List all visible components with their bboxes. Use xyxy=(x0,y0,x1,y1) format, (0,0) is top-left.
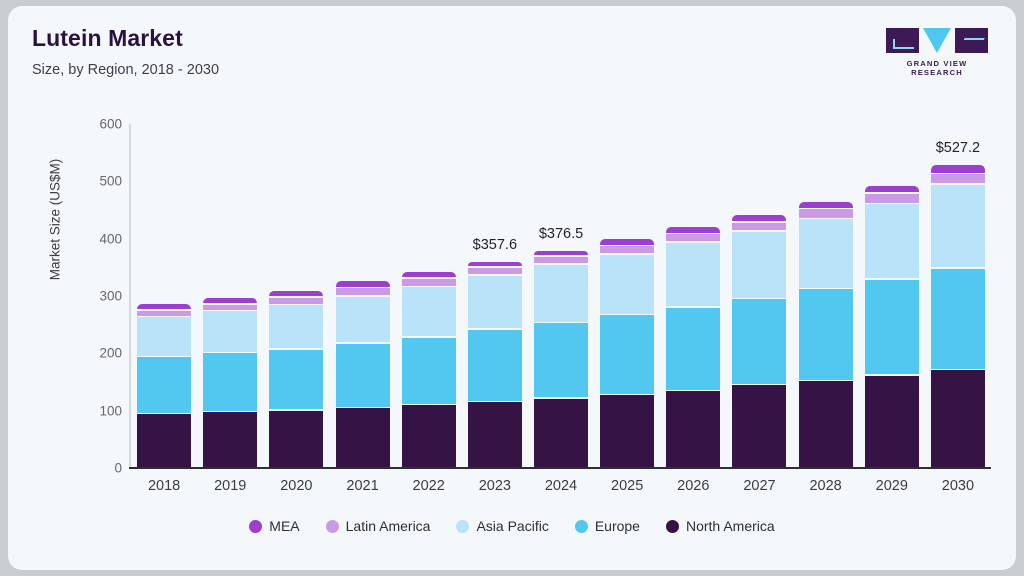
chart-subtitle: Size, by Region, 2018 - 2030 xyxy=(32,61,992,79)
legend-color-swatch-icon xyxy=(666,520,679,533)
logo-letter-v-icon xyxy=(923,28,951,53)
bar-segment[interactable] xyxy=(534,251,588,256)
bar-segment[interactable] xyxy=(137,414,191,467)
bar-segment[interactable] xyxy=(666,227,720,232)
bar-group[interactable] xyxy=(137,123,191,467)
x-axis-tick: 2025 xyxy=(592,478,662,494)
bar-segment[interactable] xyxy=(799,381,853,467)
bar-segment[interactable] xyxy=(468,330,522,401)
legend-item[interactable]: North America xyxy=(666,518,775,534)
bar-group[interactable]: $357.6 xyxy=(468,123,522,467)
bar-segment[interactable] xyxy=(336,288,390,295)
bar-segment[interactable] xyxy=(269,350,323,409)
page-title: Lutein Market xyxy=(32,24,992,52)
logo-mark-icon xyxy=(880,28,994,54)
bar-segment[interactable] xyxy=(137,317,191,356)
y-axis-tick: 0 xyxy=(68,461,122,476)
bar-segment[interactable] xyxy=(799,202,853,208)
bar-segment[interactable] xyxy=(203,305,257,310)
bar-value-label: $527.2 xyxy=(936,140,980,156)
bar-segment[interactable] xyxy=(865,280,919,374)
bar-segment[interactable] xyxy=(799,219,853,287)
bar-group[interactable] xyxy=(203,123,257,467)
bar-segment[interactable] xyxy=(269,411,323,467)
x-axis-tick: 2029 xyxy=(857,478,927,494)
legend-item[interactable]: Europe xyxy=(575,518,640,534)
bar-segment[interactable] xyxy=(600,246,654,253)
legend-item[interactable]: Latin America xyxy=(326,518,431,534)
y-axis-tick: 600 xyxy=(68,117,122,132)
bar-segment[interactable] xyxy=(203,311,257,351)
bar-group[interactable] xyxy=(336,123,390,467)
bar-group[interactable] xyxy=(732,123,786,467)
bar-group[interactable]: $527.2 xyxy=(931,123,985,467)
bar-segment[interactable] xyxy=(666,234,720,241)
bar-segment[interactable] xyxy=(799,209,853,217)
bar-segment[interactable] xyxy=(402,272,456,278)
bar-segment[interactable] xyxy=(865,194,919,203)
bar-segment[interactable] xyxy=(468,402,522,467)
legend-color-swatch-icon xyxy=(326,520,339,533)
x-axis-tick: 2022 xyxy=(394,478,464,494)
bar-group[interactable]: $376.5 xyxy=(534,123,588,467)
bar-segment[interactable] xyxy=(336,281,390,287)
bar-segment[interactable] xyxy=(600,315,654,393)
bar-segment[interactable] xyxy=(666,391,720,467)
y-axis-tick: 300 xyxy=(68,289,122,304)
legend-label: Asia Pacific xyxy=(476,518,548,534)
bar-segment[interactable] xyxy=(865,376,919,467)
y-axis-tick: 500 xyxy=(68,174,122,189)
bar-segment[interactable] xyxy=(865,204,919,278)
bar-segment[interactable] xyxy=(931,370,985,467)
bar-segment[interactable] xyxy=(534,323,588,397)
bar-segment[interactable] xyxy=(534,257,588,264)
bar-segment[interactable] xyxy=(402,405,456,467)
logo-letter-g-icon xyxy=(893,39,914,49)
bar-segment[interactable] xyxy=(402,287,456,336)
bar-segment[interactable] xyxy=(600,255,654,314)
bar-segment[interactable] xyxy=(336,408,390,467)
bar-segment[interactable] xyxy=(600,239,654,244)
bar-segment[interactable] xyxy=(534,265,588,322)
legend-label: Europe xyxy=(595,518,640,534)
bar-segment[interactable] xyxy=(732,215,786,221)
bar-segment[interactable] xyxy=(402,279,456,286)
bar-segment[interactable] xyxy=(931,165,985,173)
bar-segment[interactable] xyxy=(666,308,720,390)
chart-header: Lutein Market Size, by Region, 2018 - 20… xyxy=(32,24,992,90)
bar-segment[interactable] xyxy=(931,185,985,268)
bar-segment[interactable] xyxy=(203,412,257,467)
bar-segment[interactable] xyxy=(269,291,323,296)
bar-segment[interactable] xyxy=(269,298,323,304)
bar-segment[interactable] xyxy=(336,297,390,343)
legend-label: MEA xyxy=(269,518,299,534)
legend-color-swatch-icon xyxy=(456,520,469,533)
x-axis-line xyxy=(129,467,991,469)
legend-color-swatch-icon xyxy=(249,520,262,533)
grand-view-research-logo: GRAND VIEW RESEARCH xyxy=(880,28,994,70)
x-axis-tick: 2024 xyxy=(526,478,596,494)
y-axis-label: Market Size (US$M) xyxy=(48,140,63,300)
y-axis-tick: 100 xyxy=(68,403,122,418)
x-axis-tick: 2023 xyxy=(460,478,530,494)
legend-item[interactable]: MEA xyxy=(249,518,299,534)
bar-segment[interactable] xyxy=(534,399,588,467)
x-axis-tick: 2030 xyxy=(923,478,993,494)
x-axis-tick: 2020 xyxy=(261,478,331,494)
y-axis-ticks: 0100200300400500600 xyxy=(68,102,122,502)
bar-group[interactable] xyxy=(865,123,919,467)
bar-segment[interactable] xyxy=(269,305,323,348)
bar-group[interactable] xyxy=(666,123,720,467)
bar-segment[interactable] xyxy=(402,338,456,404)
chart-legend: MEALatin AmericaAsia PacificEuropeNorth … xyxy=(8,518,1016,534)
legend-color-swatch-icon xyxy=(575,520,588,533)
x-axis-tick: 2018 xyxy=(129,478,199,494)
x-axis-ticks: 2018201920202021202220232024202520262027… xyxy=(131,474,991,502)
bar-segment[interactable] xyxy=(732,385,786,467)
bar-segment[interactable] xyxy=(799,289,853,380)
bar-segment[interactable] xyxy=(203,298,257,303)
bar-group[interactable] xyxy=(600,123,654,467)
x-axis-tick: 2027 xyxy=(724,478,794,494)
legend-label: Latin America xyxy=(346,518,431,534)
x-axis-tick: 2021 xyxy=(328,478,398,494)
bar-value-label: $376.5 xyxy=(539,226,583,242)
chart-plot-area: Market Size (US$M) 0100200300400500600 $… xyxy=(32,102,992,502)
x-axis-tick: 2028 xyxy=(791,478,861,494)
bar-segment[interactable] xyxy=(732,232,786,298)
bar-group[interactable] xyxy=(402,123,456,467)
legend-label: North America xyxy=(686,518,775,534)
bar-segment[interactable] xyxy=(865,186,919,193)
bar-segment[interactable] xyxy=(931,269,985,369)
bar-group[interactable] xyxy=(269,123,323,467)
bar-segment[interactable] xyxy=(137,311,191,316)
y-axis-tick: 200 xyxy=(68,346,122,361)
bar-segment[interactable] xyxy=(336,344,390,407)
logo-text: GRAND VIEW RESEARCH xyxy=(880,59,994,77)
bar-segment[interactable] xyxy=(666,243,720,307)
x-axis-tick: 2026 xyxy=(658,478,728,494)
bar-segment[interactable] xyxy=(137,304,191,309)
bar-segment[interactable] xyxy=(600,395,654,467)
bar-segment[interactable] xyxy=(468,268,522,275)
bar-group[interactable] xyxy=(799,123,853,467)
bar-value-label: $357.6 xyxy=(473,237,517,253)
bar-segment[interactable] xyxy=(732,299,786,384)
bar-segment[interactable] xyxy=(468,276,522,328)
bar-segment[interactable] xyxy=(931,174,985,183)
y-axis-tick: 400 xyxy=(68,231,122,246)
x-axis-tick: 2019 xyxy=(195,478,265,494)
bar-series-container: $357.6$376.5$527.2 xyxy=(131,102,991,468)
bar-segment[interactable] xyxy=(732,223,786,231)
legend-item[interactable]: Asia Pacific xyxy=(456,518,548,534)
bar-segment[interactable] xyxy=(137,357,191,412)
chart-card: Lutein Market Size, by Region, 2018 - 20… xyxy=(8,6,1016,570)
bar-segment[interactable] xyxy=(468,262,522,267)
bar-segment[interactable] xyxy=(203,353,257,411)
